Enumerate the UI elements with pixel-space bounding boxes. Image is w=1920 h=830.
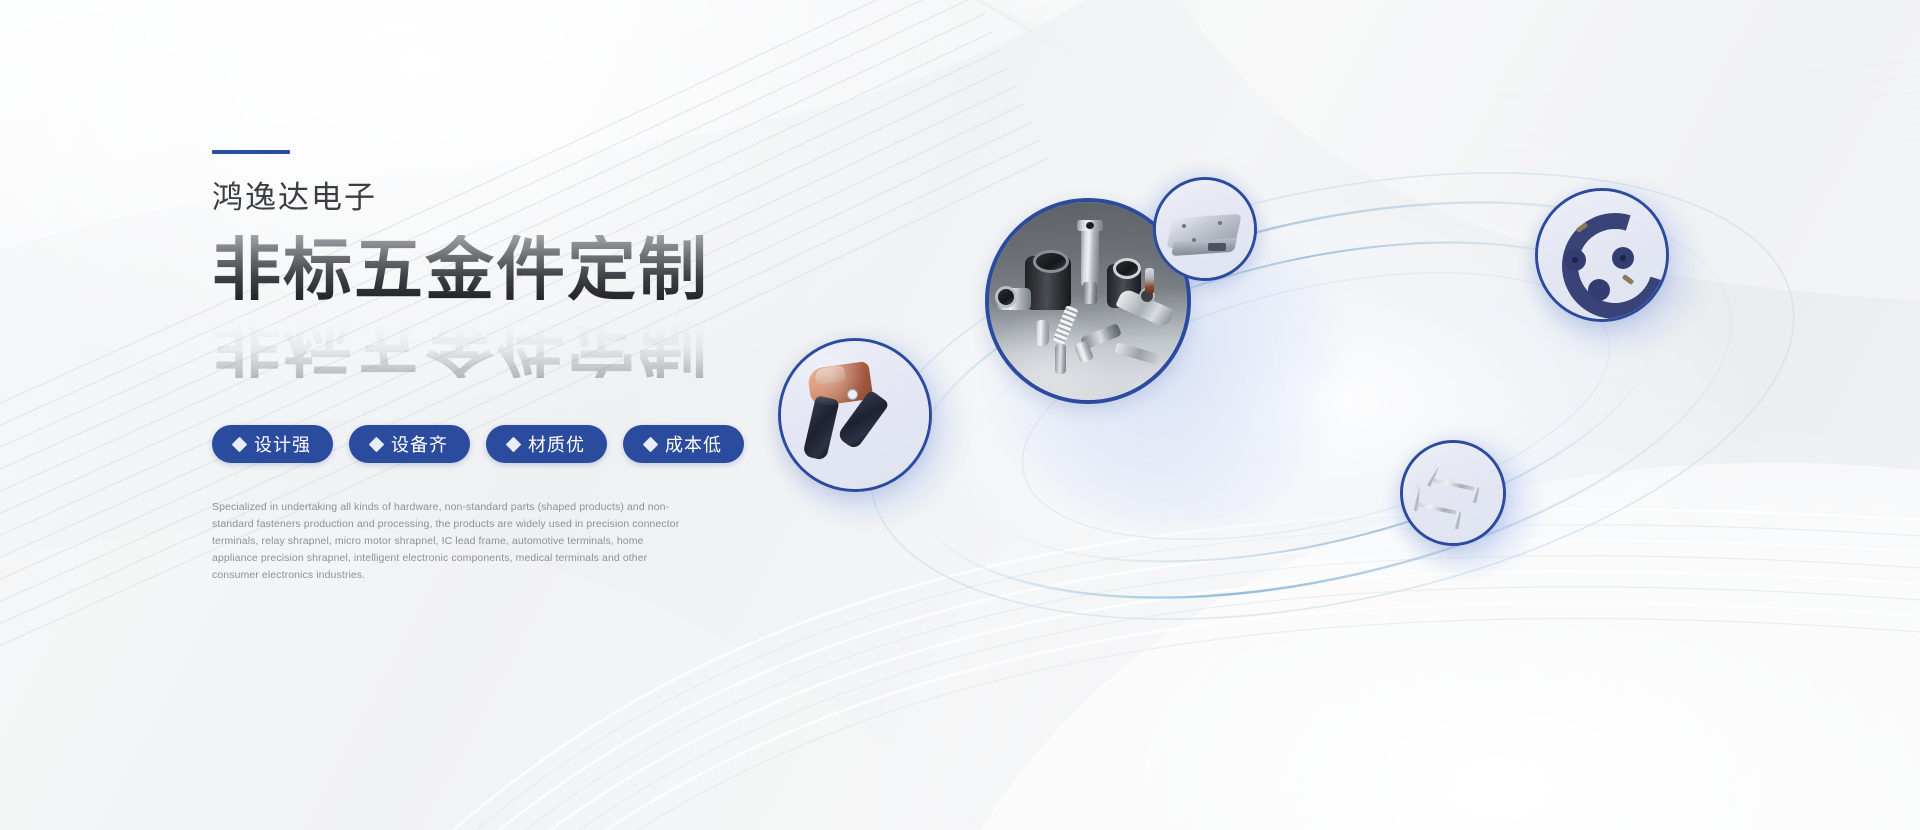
- orbit-arcs: [760, 150, 1920, 650]
- shield-can-photo: [1156, 180, 1254, 278]
- badge-label: 材质优: [528, 431, 585, 457]
- badge-design[interactable]: 设计强: [212, 425, 333, 463]
- accent-bar: [212, 150, 290, 154]
- feature-badge-list: 设计强 设备齐 材质优 成本低: [212, 425, 832, 463]
- product-circle-retaining-ring[interactable]: [1535, 188, 1669, 322]
- battery-clamp-photo: [781, 341, 929, 489]
- part-bullet-pin: [1035, 320, 1049, 346]
- part-ribbed-pin: [1052, 305, 1078, 345]
- part-bushing-bore: [1033, 250, 1069, 273]
- retaining-ring-photo: [1538, 191, 1666, 319]
- terminal-pin-upper-tip: [1472, 487, 1479, 504]
- badge-label: 成本低: [665, 431, 722, 457]
- badge-cost[interactable]: 成本低: [623, 425, 744, 463]
- can-connector-slot: [1208, 243, 1226, 251]
- headline-wrapper: 非标五金件定制 非标五金件定制: [212, 235, 832, 363]
- can-screw-hole: [1192, 238, 1196, 242]
- badge-label: 设计强: [254, 431, 311, 457]
- terminal-pin-lower-tip: [1454, 511, 1461, 529]
- diamond-icon: [232, 436, 248, 452]
- eclip-lug: [1588, 279, 1610, 301]
- bent-terminals-photo: [1403, 443, 1503, 543]
- eclip-body: [1543, 194, 1669, 322]
- part-stepped-pin: [1081, 226, 1099, 286]
- badge-label: 设备齐: [391, 431, 448, 457]
- badge-equipment[interactable]: 设备齐: [349, 425, 470, 463]
- terminal-pin-upper: [1433, 478, 1479, 491]
- clamp-handle-left: [802, 395, 839, 461]
- description-paragraph: Specialized in undertaking all kinds of …: [212, 499, 680, 584]
- page-title: 非标五金件定制: [212, 235, 832, 304]
- can-screw-hole: [1218, 221, 1222, 225]
- headline-reflection: 非标五金件定制: [212, 309, 709, 378]
- diamond-icon: [369, 436, 385, 452]
- hero-banner: 鸿逸达电子 非标五金件定制 非标五金件定制 设计强 设备齐 材质优 成本低: [0, 0, 1920, 830]
- part-socket-bore: [1113, 258, 1141, 279]
- clamp-pivot-screw: [847, 389, 858, 400]
- part-small-pin: [1055, 344, 1066, 374]
- part-connector-bore: [995, 286, 1017, 308]
- terminal-pin-upper: [1427, 465, 1439, 487]
- eclip-lug-hole: [1572, 257, 1578, 263]
- product-circle-shield-can[interactable]: [1153, 177, 1257, 281]
- part-red-tip-pin: [1145, 268, 1154, 294]
- part-pin-bore: [1086, 222, 1094, 229]
- product-circle-bent-terminals[interactable]: [1400, 440, 1506, 546]
- badge-material[interactable]: 材质优: [486, 425, 607, 463]
- eclip-lug-hole: [1620, 255, 1626, 261]
- product-circle-battery-clamp[interactable]: [778, 338, 932, 492]
- hero-text-block: 鸿逸达电子 非标五金件定制 非标五金件定制 设计强 设备齐 材质优 成本低: [212, 150, 832, 584]
- terminal-pin-lower: [1414, 485, 1420, 511]
- brand-name: 鸿逸达电子: [212, 182, 832, 213]
- terminal-pin-lower: [1417, 502, 1461, 515]
- part-pin-shank: [1083, 282, 1097, 304]
- product-showcase: [760, 150, 1920, 650]
- diamond-icon: [506, 436, 522, 452]
- part-flat-clip: [1114, 342, 1159, 365]
- diamond-icon: [643, 436, 659, 452]
- can-screw-hole: [1182, 224, 1186, 228]
